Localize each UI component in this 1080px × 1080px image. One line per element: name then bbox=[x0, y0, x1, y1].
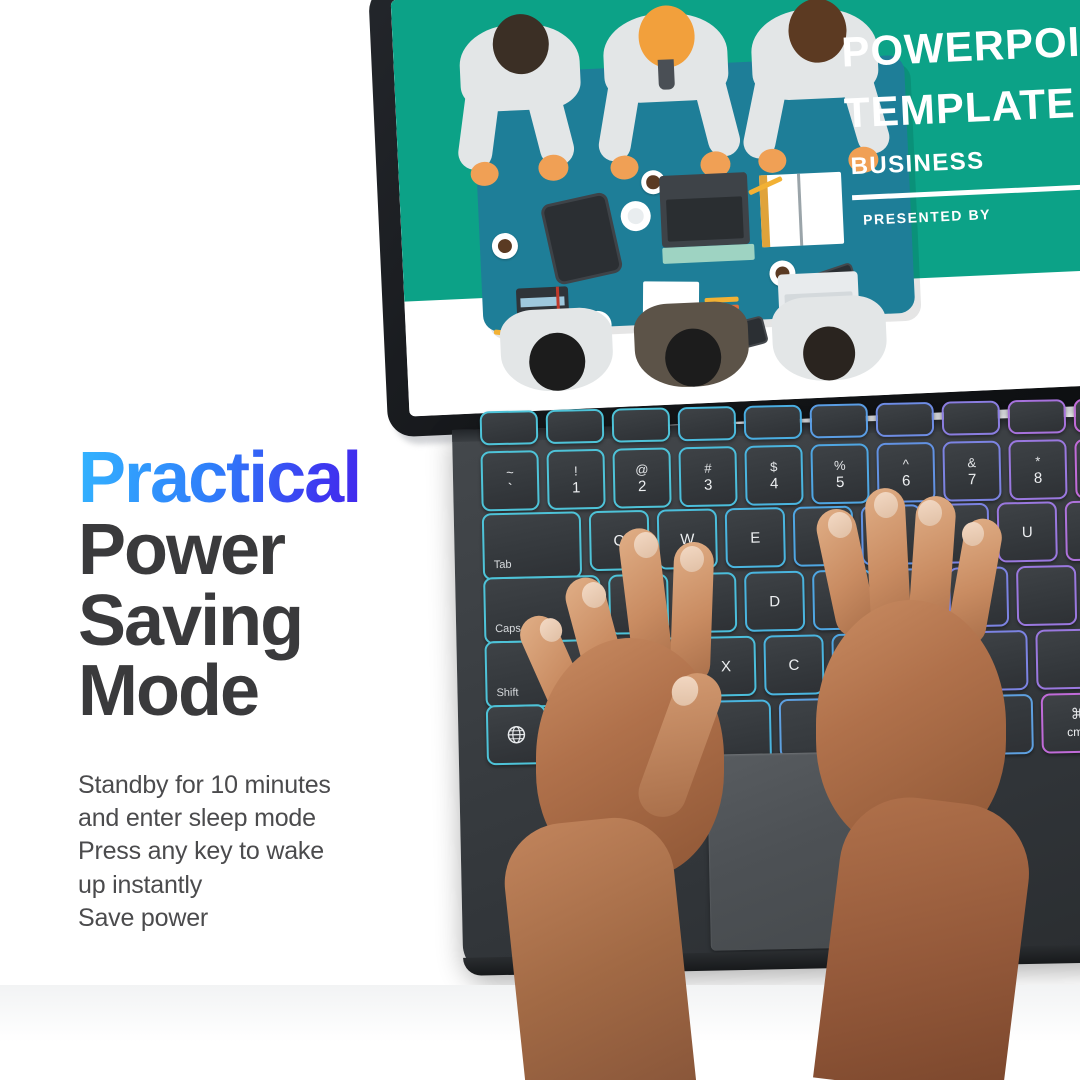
key-caps-lock-label: Caps Lock bbox=[495, 622, 547, 635]
key-b[interactable]: B bbox=[899, 631, 960, 692]
key-2[interactable]: @ 2 bbox=[612, 447, 671, 508]
key-4-main: 4 bbox=[770, 477, 779, 493]
globe-icon[interactable] bbox=[486, 704, 547, 765]
headline-line-2: Saving bbox=[78, 586, 438, 657]
body-line-2: and enter sleep mode bbox=[78, 802, 438, 835]
key-3-shift: # bbox=[704, 461, 712, 475]
key-x-label: X bbox=[721, 658, 731, 675]
number-row: ~ ` ! 1 @ 2 # 3 $ 4 bbox=[480, 438, 1080, 512]
key-t[interactable]: T bbox=[861, 504, 922, 565]
key-4-shift: $ bbox=[770, 460, 778, 474]
key-6-main: 6 bbox=[902, 474, 911, 490]
tablet-screen[interactable]: POWERPOINT TEMPLATE BUSINESS PRESENTED B… bbox=[391, 0, 1080, 417]
desk-surface bbox=[0, 985, 1080, 1080]
key-1-shift: ! bbox=[574, 464, 578, 478]
key-z[interactable]: Z bbox=[627, 637, 688, 698]
headline-line-1: Power bbox=[78, 515, 438, 586]
key-fn-3[interactable] bbox=[612, 407, 671, 442]
laptop-keyboard bbox=[666, 196, 744, 241]
key-1[interactable]: ! 1 bbox=[546, 449, 605, 510]
key-n[interactable]: N bbox=[967, 630, 1028, 691]
key-3[interactable]: # 3 bbox=[678, 446, 737, 507]
key-8-main: 8 bbox=[1034, 471, 1043, 487]
key-u[interactable]: U bbox=[997, 501, 1058, 562]
key-w-label: W bbox=[680, 530, 695, 547]
key-c[interactable]: C bbox=[763, 634, 824, 695]
key-2-main: 2 bbox=[638, 479, 647, 495]
key-backtick-shift: ~ bbox=[506, 466, 514, 480]
key-w[interactable]: W bbox=[657, 508, 718, 569]
key-7-main: 7 bbox=[968, 472, 977, 488]
key-fn-9[interactable] bbox=[1008, 399, 1067, 434]
key-4[interactable]: $ 4 bbox=[744, 445, 803, 506]
key-6-shift: ^ bbox=[903, 457, 909, 471]
key-fn-8[interactable] bbox=[942, 401, 1001, 436]
key-s-label: S bbox=[701, 594, 711, 611]
key-fn-6[interactable] bbox=[810, 403, 869, 438]
key-1-main: 1 bbox=[572, 481, 581, 497]
key-command-label: cmd bbox=[1067, 726, 1080, 739]
key-z-label: Z bbox=[653, 659, 663, 676]
key-v[interactable]: V bbox=[831, 633, 892, 694]
key-backtick-main: ` bbox=[508, 482, 513, 498]
key-fn-4[interactable] bbox=[678, 406, 737, 441]
key-s[interactable]: S bbox=[676, 572, 737, 633]
key-8[interactable]: * 8 bbox=[1008, 439, 1067, 500]
headline-accent: Practical bbox=[78, 444, 438, 513]
key-fn-label: fn bbox=[564, 750, 573, 762]
slide-title-line-2: TEMPLATE bbox=[843, 79, 1080, 135]
key-r-label: R bbox=[818, 528, 829, 545]
key-caps-lock[interactable]: Caps Lock bbox=[483, 575, 601, 644]
key-5-main: 5 bbox=[836, 475, 845, 491]
key-y[interactable]: Y bbox=[929, 503, 990, 564]
presentation-slide: POWERPOINT TEMPLATE BUSINESS PRESENTED B… bbox=[391, 0, 1080, 417]
body-line-3: Press any key to wake bbox=[78, 835, 438, 868]
key-fn-7[interactable] bbox=[876, 402, 935, 437]
key-7-shift: & bbox=[967, 456, 976, 470]
key-6[interactable]: ^ 6 bbox=[876, 442, 935, 503]
key-q-label: Q bbox=[613, 532, 625, 549]
key-v-label: V bbox=[857, 655, 867, 672]
trackpad[interactable] bbox=[707, 749, 989, 951]
key-8-shift: * bbox=[1035, 454, 1040, 468]
key-q[interactable]: Q bbox=[589, 510, 650, 571]
key-tab[interactable]: Tab bbox=[482, 511, 582, 580]
key-a-label: A bbox=[633, 596, 643, 613]
text-panel: Practical Power Saving Mode Standby for … bbox=[78, 444, 438, 935]
key-tab-label: Tab bbox=[494, 559, 512, 571]
key-a[interactable]: A bbox=[608, 574, 669, 635]
key-command-symbol: ⌘ bbox=[1070, 707, 1080, 723]
body-line-4: up instantly bbox=[78, 869, 438, 902]
key-d-label: D bbox=[769, 593, 780, 610]
key-shift-label: Shift bbox=[496, 687, 518, 699]
keyboard-base: ~ ` ! 1 @ 2 # 3 $ 4 bbox=[452, 415, 1080, 990]
key-j[interactable]: J bbox=[1016, 565, 1077, 626]
key-e-label: E bbox=[750, 529, 760, 546]
key-backtick[interactable]: ~ ` bbox=[480, 450, 539, 511]
poster-canvas: POWERPOINT TEMPLATE BUSINESS PRESENTED B… bbox=[0, 0, 1080, 1080]
key-fn-10[interactable] bbox=[1073, 398, 1080, 433]
key-u-label: U bbox=[1022, 523, 1033, 540]
slide-subtitle: BUSINESS bbox=[850, 140, 1080, 181]
slide-text-block: POWERPOINT TEMPLATE BUSINESS PRESENTED B… bbox=[827, 18, 1080, 229]
key-h[interactable]: H bbox=[948, 566, 1009, 627]
key-i[interactable]: I bbox=[1065, 500, 1080, 561]
key-f-label: F bbox=[838, 591, 848, 608]
key-5[interactable]: % 5 bbox=[810, 443, 869, 504]
key-3-main: 3 bbox=[704, 478, 713, 494]
key-fn[interactable]: fn bbox=[554, 703, 622, 771]
tablet-bezel: POWERPOINT TEMPLATE BUSINESS PRESENTED B… bbox=[368, 0, 1080, 438]
tablet-device: POWERPOINT TEMPLATE BUSINESS PRESENTED B… bbox=[368, 0, 1080, 456]
key-x[interactable]: X bbox=[695, 636, 756, 697]
body-line-1: Standby for 10 minutes bbox=[78, 769, 438, 802]
globe-icon-glyph bbox=[506, 725, 526, 745]
key-g[interactable]: G bbox=[880, 568, 941, 629]
key-e[interactable]: E bbox=[725, 507, 786, 568]
key-2-shift: @ bbox=[635, 463, 648, 477]
key-fn-1[interactable] bbox=[480, 410, 539, 445]
key-space[interactable]: space bbox=[779, 694, 1034, 759]
headline-line-3: Mode bbox=[78, 656, 438, 727]
body-copy: Standby for 10 minutes and enter sleep m… bbox=[78, 769, 438, 935]
key-control[interactable]: control bbox=[629, 701, 697, 769]
slide-divider bbox=[852, 183, 1080, 200]
key-5-shift: % bbox=[834, 459, 846, 473]
key-shift[interactable]: Shift bbox=[484, 639, 620, 709]
key-r[interactable]: R bbox=[793, 506, 854, 567]
key-7[interactable]: & 7 bbox=[942, 441, 1001, 502]
body-line-5: Save power bbox=[78, 902, 438, 935]
slide-title-line-1: POWERPOINT bbox=[841, 18, 1080, 74]
key-9[interactable]: ( 9 bbox=[1074, 438, 1080, 499]
key-command[interactable]: ⌘ cmd bbox=[1041, 692, 1080, 754]
key-m[interactable]: M bbox=[1035, 629, 1080, 690]
key-f[interactable]: F bbox=[812, 569, 873, 630]
key-d[interactable]: D bbox=[744, 571, 805, 632]
key-c-label: C bbox=[788, 656, 799, 673]
key-fn-5[interactable] bbox=[744, 405, 803, 440]
key-fn-2[interactable] bbox=[546, 409, 605, 444]
